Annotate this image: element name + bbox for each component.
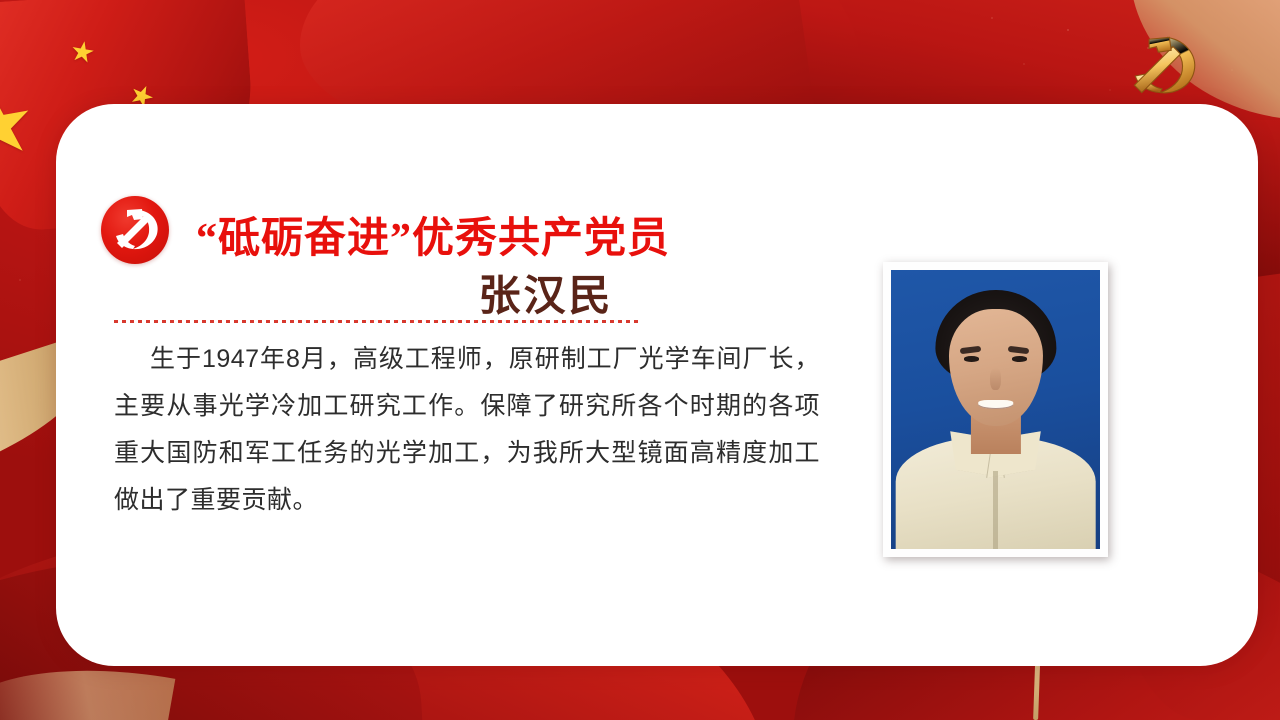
- portrait-nose: [990, 368, 1000, 390]
- cpc-emblem-gold-icon: [1116, 28, 1208, 102]
- portrait-photo-frame: [883, 262, 1108, 557]
- content-card: “砥砺奋进”优秀共产党员 张汉民 生于1947年8月，高级工程师，原研制工厂光学…: [56, 104, 1258, 666]
- title-divider: [114, 320, 641, 323]
- person-name: 张汉民: [196, 262, 896, 323]
- portrait-eye-left: [964, 356, 979, 361]
- page-title: “砥砺奋进”优秀共产党员: [196, 204, 896, 265]
- portrait-photo: [891, 270, 1100, 549]
- slide-root: ★ ★ ★ ★ ★: [0, 0, 1280, 720]
- portrait-eye-right: [1012, 356, 1027, 361]
- portrait-shirt-placket: [993, 471, 997, 549]
- flag-star-small-1: ★: [68, 36, 98, 68]
- cpc-badge-icon: [101, 196, 169, 264]
- biography-text: 生于1947年8月，高级工程师，原研制工厂光学车间厂长，主要从事光学冷加工研究工…: [114, 336, 820, 524]
- portrait-mouth: [978, 400, 1014, 409]
